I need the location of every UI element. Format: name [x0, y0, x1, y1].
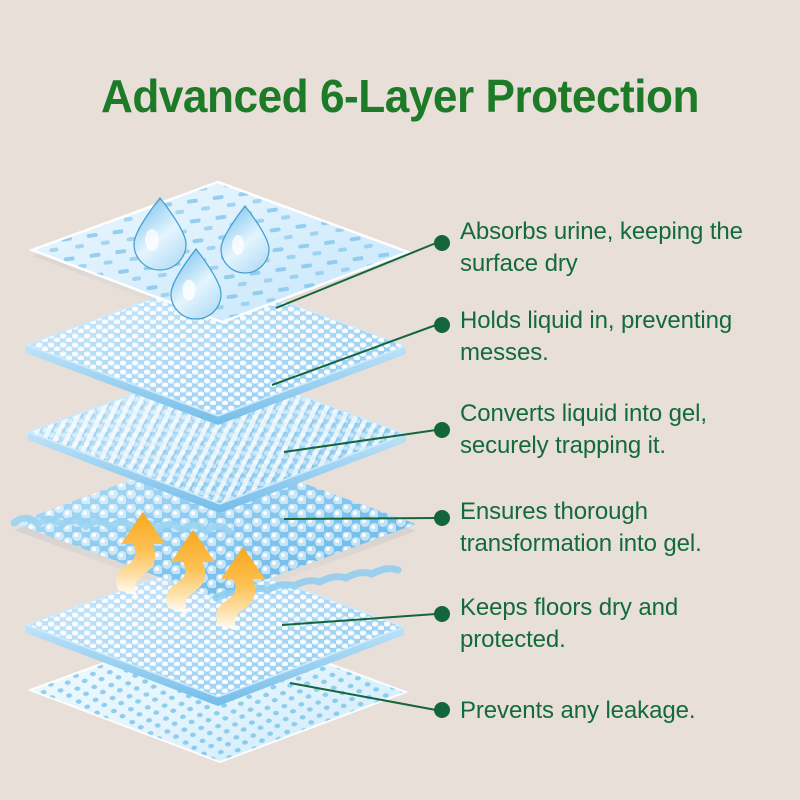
callout-text-6: Prevents any leakage. — [460, 695, 790, 727]
layer-stack-illustration — [0, 0, 440, 800]
infographic-page: Advanced 6-Layer Protection — [0, 0, 800, 800]
callout-text-5: Keeps floors dry and protected. — [460, 592, 790, 656]
callout-text-1: Absorbs urine, keeping the surface dry — [460, 216, 790, 280]
callout-text-4: Ensures thorough transformation into gel… — [460, 496, 790, 560]
layer-1-top-sheet — [0, 170, 440, 335]
callout-text-2: Holds liquid in, preventing messes. — [460, 305, 790, 369]
callout-text-3: Converts liquid into gel, securely trapp… — [460, 398, 790, 462]
